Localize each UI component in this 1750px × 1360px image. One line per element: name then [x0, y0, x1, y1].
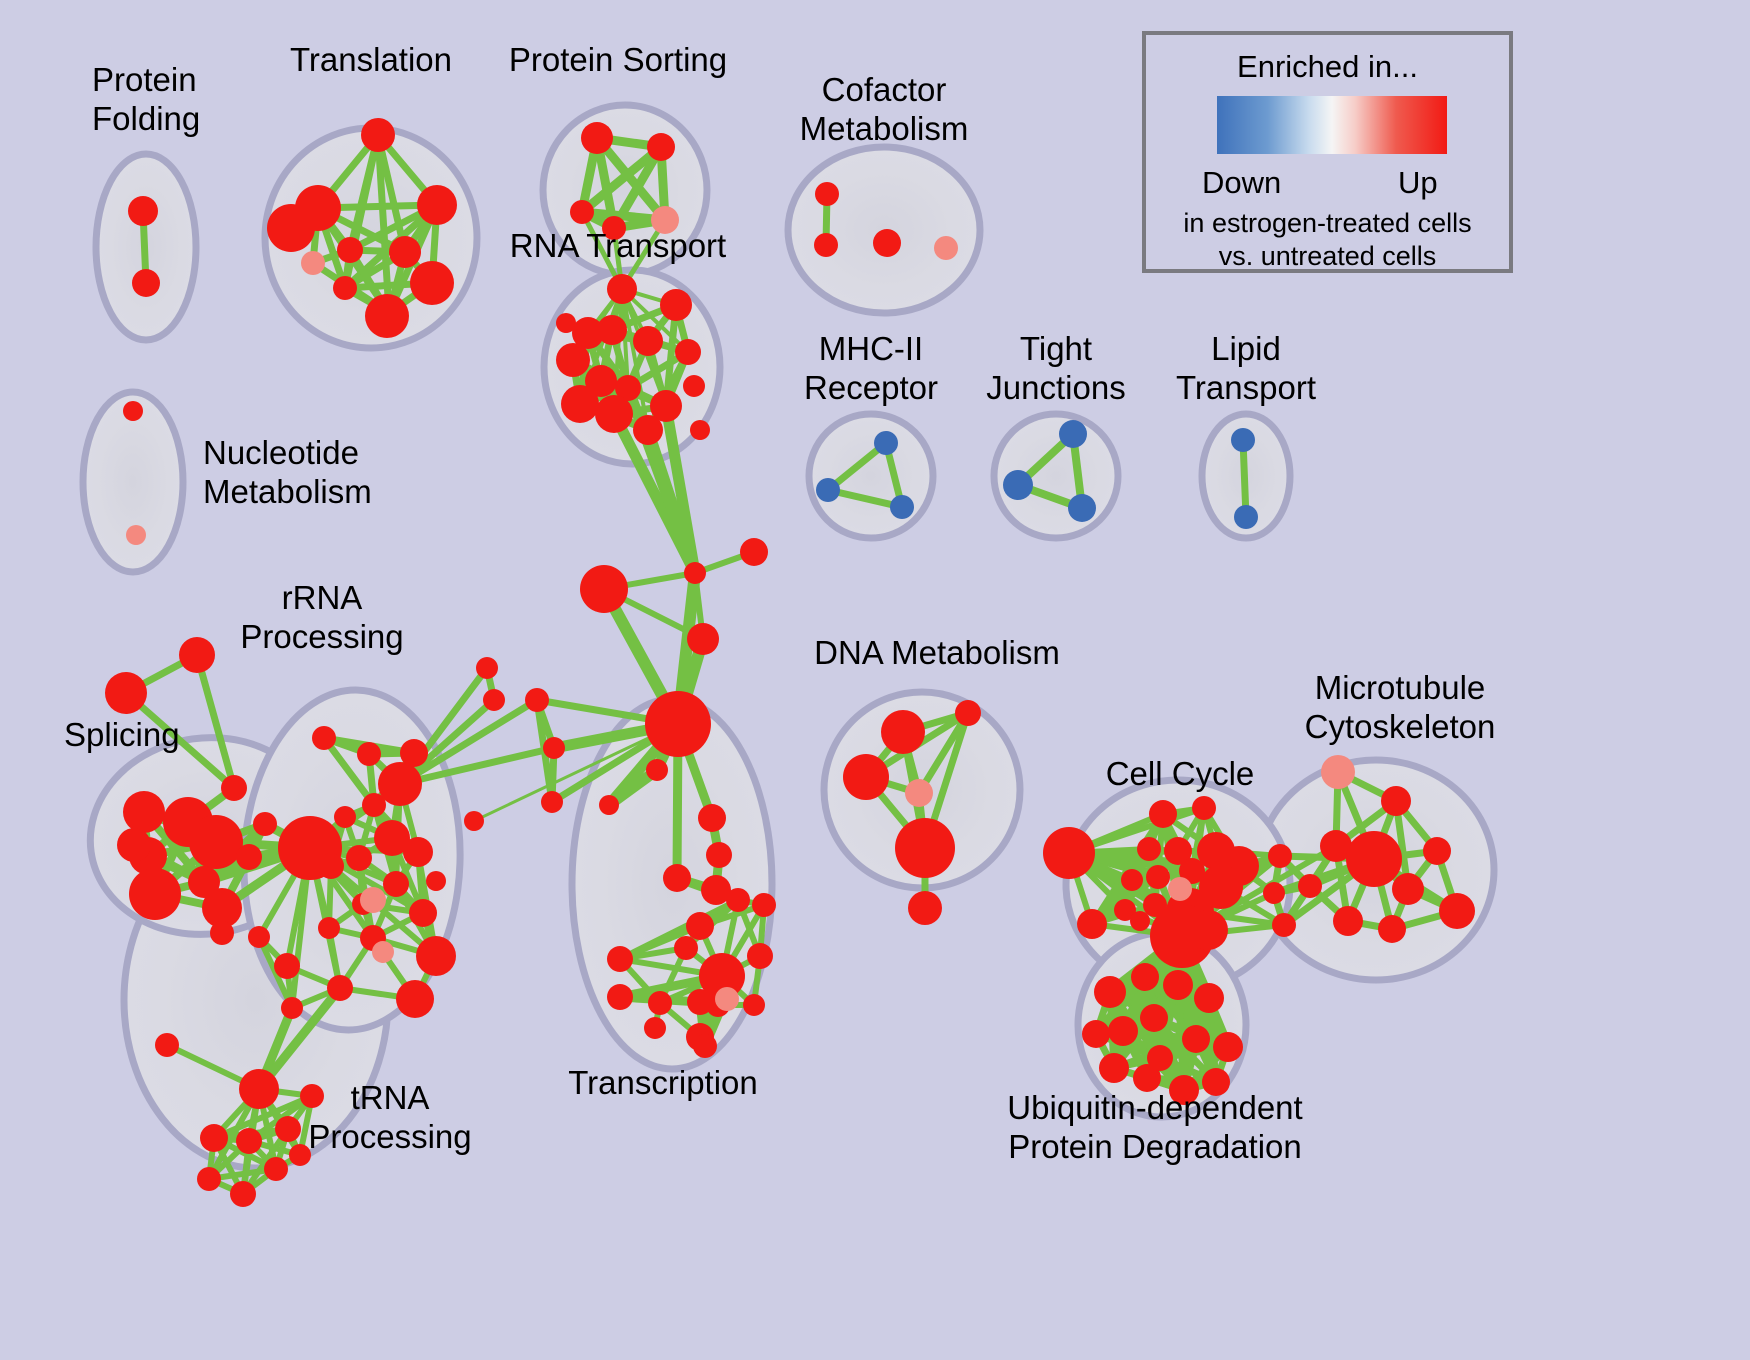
label-rna-transport: RNA Transport: [510, 226, 726, 265]
legend-up-label: Up: [1398, 165, 1438, 201]
label-tight-junctions: TightJunctions: [986, 329, 1125, 407]
legend-down-label: Down: [1202, 165, 1281, 201]
legend-subtitle: in estrogen-treated cellsvs. untreated c…: [1146, 207, 1509, 273]
label-nucleotide-metabolism: NucleotideMetabolism: [203, 433, 372, 511]
label-cell-cycle: Cell Cycle: [1106, 754, 1255, 793]
legend-panel: Enriched in... Down Up in estrogen-treat…: [1142, 31, 1513, 273]
label-transcription: Transcription: [568, 1063, 758, 1102]
label-cofactor-metabolism: CofactorMetabolism: [800, 70, 969, 148]
cluster-mhc-ii-receptor: [809, 414, 933, 538]
legend-color-gradient-bar: [1217, 96, 1447, 154]
label-protein-folding: ProteinFolding: [92, 60, 200, 138]
enrichment-map-figure: ProteinFolding Translation NucleotideMet…: [0, 0, 1750, 1360]
label-protein-sorting: Protein Sorting: [509, 40, 727, 79]
label-ubiquitin-protein-degradation: Ubiquitin-dependentProtein Degradation: [1007, 1088, 1302, 1166]
label-lipid-transport: LipidTransport: [1176, 329, 1316, 407]
label-trna-processing: tRNAProcessing: [308, 1078, 471, 1156]
label-rrna-processing: rRNAProcessing: [240, 578, 403, 656]
label-mhc-ii-receptor: MHC-IIReceptor: [804, 329, 938, 407]
legend-title: Enriched in...: [1146, 49, 1509, 85]
label-splicing: Splicing: [64, 715, 180, 754]
label-microtubule-cytoskeleton: MicrotubuleCytoskeleton: [1305, 668, 1496, 746]
label-dna-metabolism: DNA Metabolism: [814, 633, 1060, 672]
label-translation: Translation: [290, 40, 452, 79]
